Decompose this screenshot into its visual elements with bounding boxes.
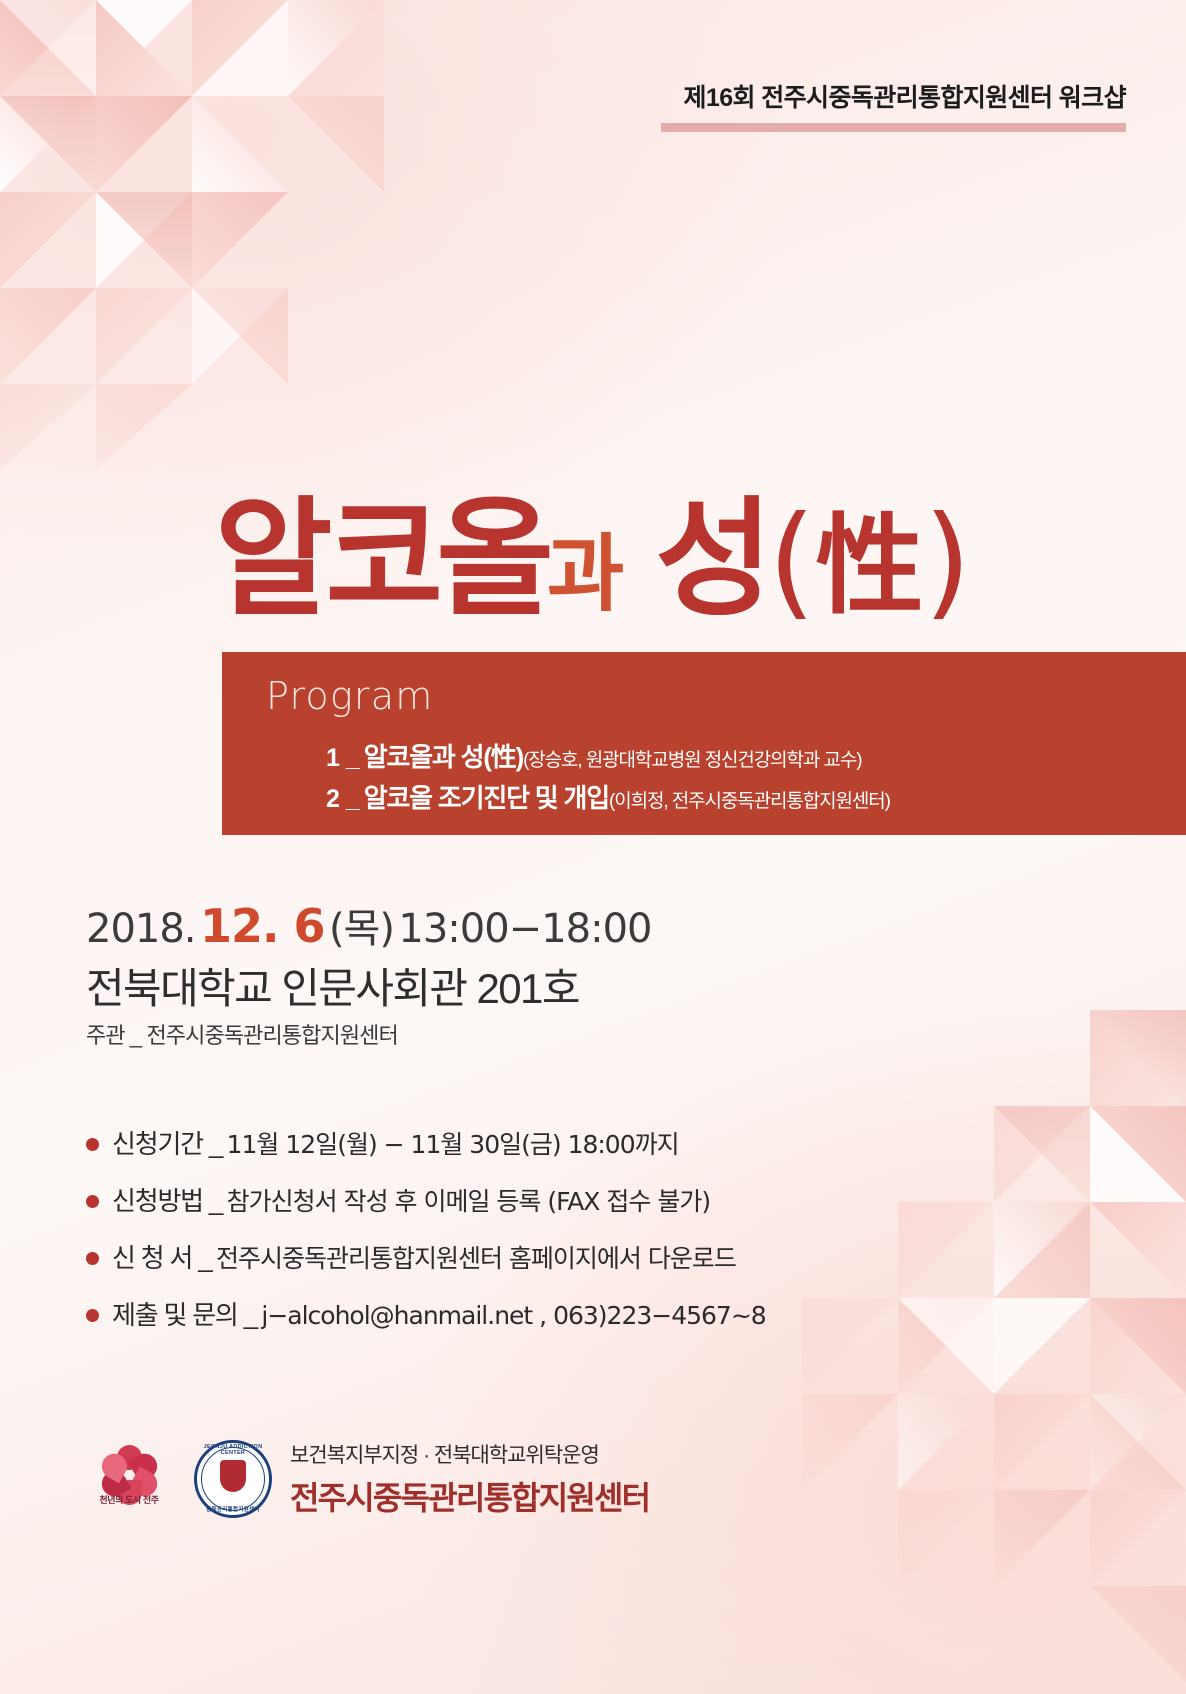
bullet-dot-icon <box>86 1252 99 1265</box>
seal-bottom-text: 중독관리통합지원센터 <box>194 1505 272 1513</box>
poster-canvas: 제16회 전주시중독관리통합지원센터 워크샵 알코올과성(性) Program … <box>0 0 1186 1694</box>
seal-top-text: JEONJU ADDICTION CENTER <box>194 1444 272 1456</box>
title-sex: 성 <box>655 485 768 634</box>
seal-shield-icon <box>220 1460 246 1492</box>
program-item-title: 알코올과 성(性) <box>364 742 523 772</box>
footer-center-name: 전주시중독관리통합지원센터 <box>290 1473 649 1519</box>
program-item-number: 2 _ <box>326 785 359 813</box>
info-label: 신 청 서 _ <box>112 1238 212 1275</box>
title-paren-open: ( <box>768 490 816 632</box>
application-info-list: 신청기간 _ 11월 12일(월) − 11월 30일(금) 18:00까지 신… <box>86 1124 766 1352</box>
poster-footer: 천년의 도시 전주 JEONJU ADDICTION CENTER 중독관리통합… <box>86 1437 649 1521</box>
footer-designation: 보건복지부지정 · 전북대학교위탁운영 <box>290 1439 649 1469</box>
program-item: 2 _ 알코올 조기진단 및 개입(이희정, 전주시중독관리통합지원센터) <box>326 781 890 817</box>
event-month-day: 12. 6 <box>200 899 325 953</box>
info-value: 11월 12일(월) − 11월 30일(금) 18:00까지 <box>227 1125 679 1161</box>
event-time-range: 13:00−18:00 <box>398 906 651 952</box>
bullet-dot-icon <box>86 1138 99 1151</box>
title-hanja-sex: 性 <box>816 504 924 629</box>
event-host-organizer: 주관 _ 전주시중독관리통합지원센터 <box>86 1018 398 1050</box>
program-item-title: 알코올 조기진단 및 개입 <box>364 783 609 813</box>
jeonju-city-flower-logo-icon: 천년의 도시 전주 <box>86 1437 172 1521</box>
program-heading: Program <box>266 674 433 718</box>
list-item: 신 청 서 _ 전주시중독관리통합지원센터 홈페이지에서 다운로드 <box>86 1238 766 1275</box>
list-item: 신청기간 _ 11월 12일(월) − 11월 30일(금) 18:00까지 <box>86 1124 766 1161</box>
program-item-presenter: (이희정, 전주시중독관리통합지원센터) <box>609 791 890 812</box>
info-label: 신청방법 _ <box>112 1181 222 1218</box>
info-value: 전주시중독관리통합지원센터 홈페이지에서 다운로드 <box>216 1239 736 1275</box>
title-paren-close: ) <box>924 490 972 632</box>
program-panel: Program 1 _ 알코올과 성(性)(장승호, 원광대학교병원 정신건강의… <box>222 652 1186 835</box>
info-contact-value: j−alcohol@hanmail.net , 063)223−4567~8 <box>261 1301 765 1330</box>
poster-main-title: 알코올과성(性) <box>0 455 1186 640</box>
footer-organization-block: 보건복지부지정 · 전북대학교위탁운영 전주시중독관리통합지원센터 <box>290 1439 649 1519</box>
title-alcohol: 알코올 <box>215 485 547 634</box>
info-label: 신청기간 _ <box>112 1124 222 1161</box>
event-year: 2018. <box>86 906 196 952</box>
title-conjunction: 과 <box>547 525 621 623</box>
workshop-edition-title: 제16회 전주시중독관리통합지원센터 워크샵 <box>661 78 1126 114</box>
list-item: 신청방법 _ 참가신청서 작성 후 이메일 등록 (FAX 접수 불가) <box>86 1181 766 1218</box>
bullet-dot-icon <box>86 1195 99 1208</box>
event-venue: 전북대학교 인문사회관 201호 <box>86 955 579 1016</box>
header-underline-rule <box>661 123 1126 132</box>
flower-logo-caption: 천년의 도시 전주 <box>94 1495 164 1505</box>
bullet-dot-icon <box>86 1309 99 1322</box>
center-emblem-seal-icon: JEONJU ADDICTION CENTER 중독관리통합지원센터 <box>194 1440 272 1518</box>
program-item-number: 1 _ <box>326 744 359 772</box>
program-item-presenter: (장승호, 원광대학교병원 정신건강의학과 교수) <box>523 750 861 771</box>
program-item: 1 _ 알코올과 성(性)(장승호, 원광대학교병원 정신건강의학과 교수) <box>326 740 890 776</box>
list-item: 제출 및 문의 _ j−alcohol@hanmail.net , 063)22… <box>86 1295 766 1332</box>
event-date-line: 2018. 12. 6 (목) 13:00−18:00 <box>86 896 651 954</box>
event-day-of-week: (목) <box>329 906 394 952</box>
info-label: 제출 및 문의 _ <box>112 1295 257 1332</box>
info-value: 참가신청서 작성 후 이메일 등록 (FAX 접수 불가) <box>227 1182 710 1218</box>
program-item-list: 1 _ 알코올과 성(性)(장승호, 원광대학교병원 정신건강의학과 교수) 2… <box>326 740 890 821</box>
poster-header: 제16회 전주시중독관리통합지원센터 워크샵 <box>661 78 1126 132</box>
